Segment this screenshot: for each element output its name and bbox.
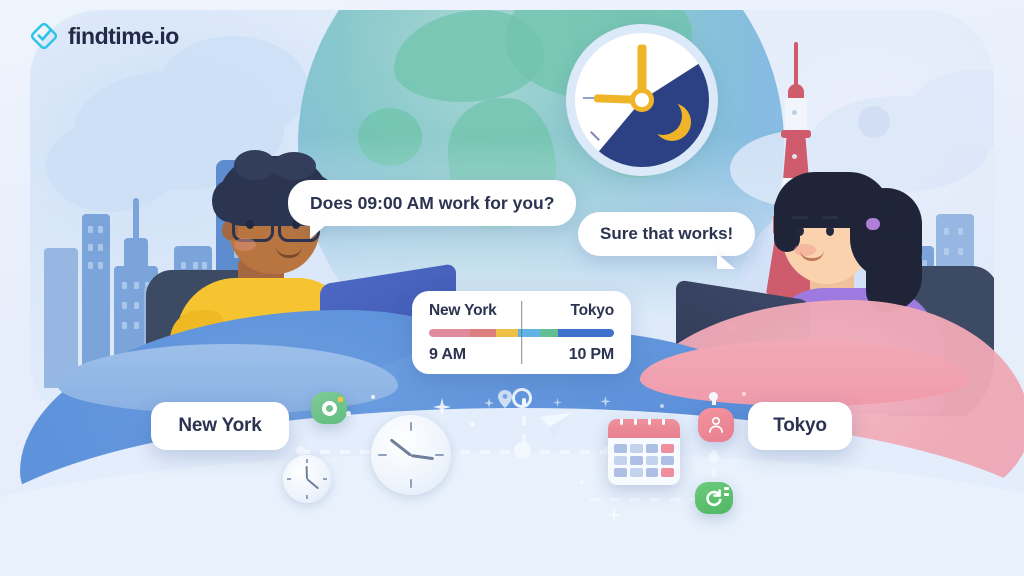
dot-accent (470, 422, 475, 427)
timezone-city-right: Tokyo (571, 302, 615, 320)
dot-accent (371, 395, 375, 399)
speech-bubble-right[interactable]: Sure that works! (578, 212, 755, 256)
illustration-canvas: Does 09:00 AM work for you? Sure that wo… (0, 0, 1024, 576)
speech-bubble-left-text: Does 09:00 AM work for you? (310, 193, 554, 214)
map-pin-icon (498, 390, 512, 408)
timezone-bar-segment (496, 329, 518, 337)
location-pill-new-york[interactable]: New York (151, 402, 289, 450)
timezone-city-left: New York (429, 302, 497, 320)
timezone-bar-segment (558, 329, 614, 337)
timezone-bar-segment (470, 329, 496, 337)
timezone-bar-segment (540, 329, 559, 337)
dot-accent (742, 392, 746, 396)
scheduling-timeline (0, 0, 1024, 576)
dot-accent (346, 411, 351, 416)
refresh-app-icon[interactable] (695, 482, 733, 514)
dot-accent (840, 498, 860, 518)
timezone-divider (521, 301, 523, 364)
analog-clock-icon (371, 415, 451, 495)
day-night-clock-icon (566, 24, 718, 176)
clock-hub (630, 88, 654, 112)
dot-accent (580, 480, 584, 484)
dot-accent (176, 492, 198, 514)
timezone-bar-segment (429, 329, 470, 337)
timeline-node-ring[interactable] (512, 388, 532, 408)
small-analog-clock-icon (283, 455, 331, 503)
timezone-comparison-card[interactable]: New York Tokyo 9 AM 10 PM (412, 291, 631, 374)
diamond-check-icon (30, 22, 58, 50)
timeline-node[interactable] (708, 452, 719, 463)
location-pill-tokyo-label: Tokyo (773, 415, 827, 437)
clock-face (575, 33, 709, 167)
timezone-time-right: 10 PM (569, 346, 614, 364)
speech-bubble-right-text: Sure that works! (600, 224, 733, 244)
timeline-node[interactable] (514, 442, 531, 459)
camera-flash-icon (338, 397, 343, 402)
calendar-header (608, 419, 680, 438)
person-glyph-icon (706, 415, 726, 435)
speech-bubble-left[interactable]: Does 09:00 AM work for you? (288, 180, 576, 226)
dot-accent (660, 404, 664, 408)
brand-name: findtime.io (68, 23, 179, 50)
paper-plane-icon (538, 408, 576, 442)
timeline-track (590, 498, 700, 501)
refresh-glyph-icon (704, 488, 724, 508)
location-pill-new-york-label: New York (178, 415, 261, 437)
location-pill-tokyo[interactable]: Tokyo (748, 402, 852, 450)
camera-app-icon[interactable] (311, 392, 347, 424)
timeline-endpoint (709, 392, 718, 401)
contacts-app-icon[interactable] (698, 408, 734, 442)
brand-logo[interactable]: findtime.io (30, 22, 179, 50)
timezone-time-left: 9 AM (429, 346, 466, 364)
calendar-icon (608, 419, 680, 485)
timeline-track (460, 450, 620, 454)
crescent-moon-icon (653, 103, 691, 141)
timeline-endpoint (296, 446, 305, 455)
calendar-grid (608, 438, 680, 483)
camera-lens-icon (322, 401, 337, 416)
